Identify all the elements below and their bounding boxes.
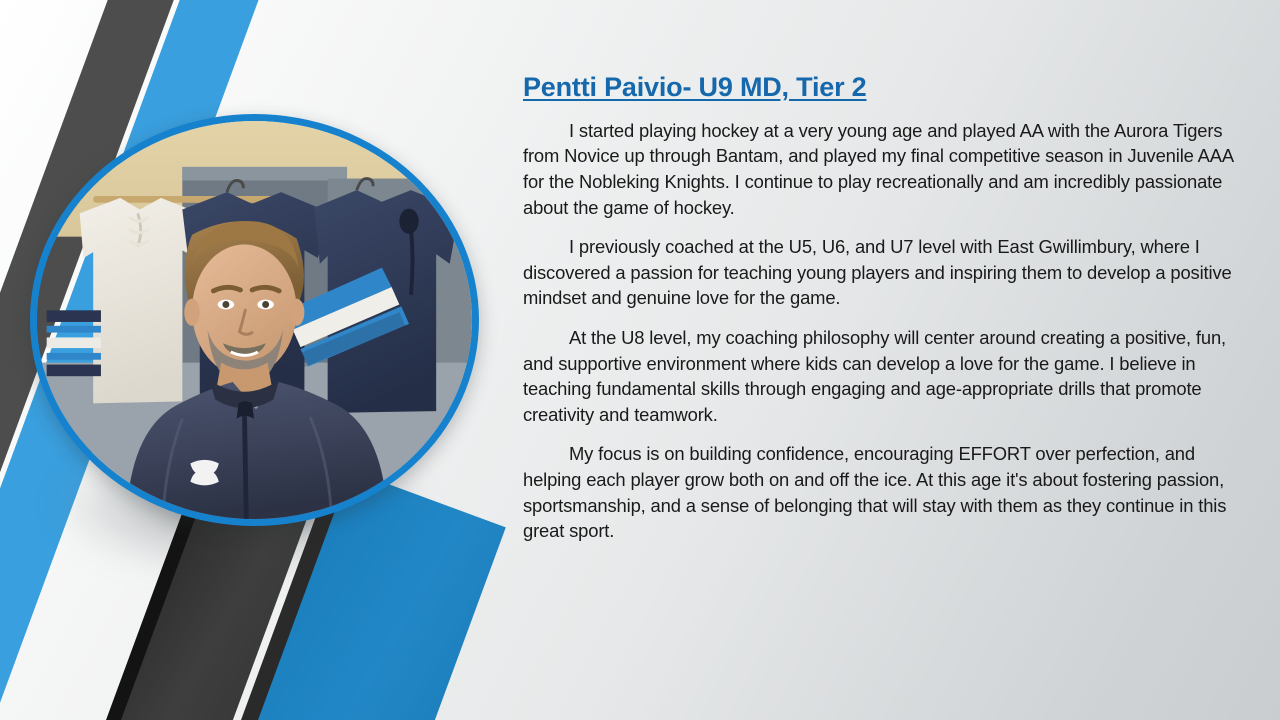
coach-portrait-photo bbox=[30, 114, 479, 526]
bio-paragraph-2: I previously coached at the U5, U6, and … bbox=[523, 234, 1247, 311]
portrait-illustration bbox=[37, 121, 472, 519]
bio-text-column: Pentti Paivio- U9 MD, Tier 2 I started p… bbox=[523, 72, 1247, 544]
page-title: Pentti Paivio- U9 MD, Tier 2 bbox=[523, 72, 1247, 104]
bio-paragraph-1: I started playing hockey at a very young… bbox=[523, 118, 1247, 220]
slide-canvas: Pentti Paivio- U9 MD, Tier 2 I started p… bbox=[0, 0, 1280, 720]
bio-paragraph-3: At the U8 level, my coaching philosophy … bbox=[523, 325, 1247, 427]
bio-paragraph-4: My focus is on building confidence, enco… bbox=[523, 441, 1247, 543]
